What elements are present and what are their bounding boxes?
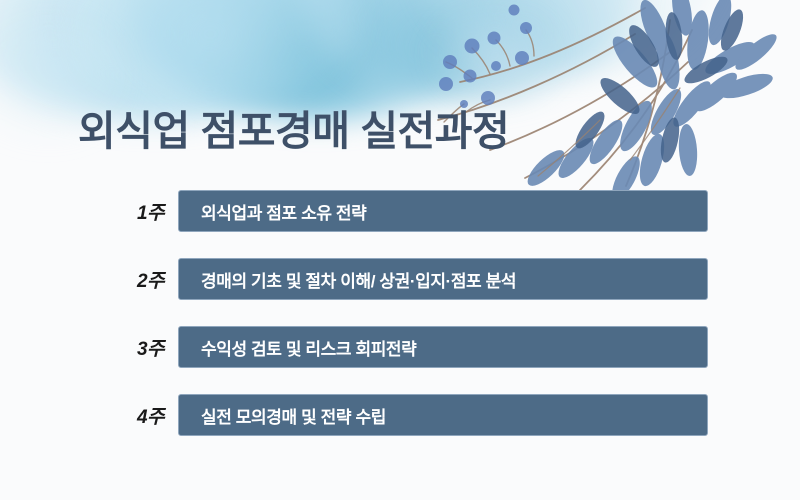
topic-bar-1[interactable]: 외식업과 점포 소유 전략 (178, 190, 708, 232)
topic-label-1: 외식업과 점포 소유 전략 (179, 199, 366, 224)
topic-label-2: 경매의 기초 및 절차 이해/ 상권·입지·점포 분석 (179, 267, 516, 292)
poster-canvas: 외식업 점포경매 실전과정 1주 외식업과 점포 소유 전략 2주 경매의 기초… (0, 0, 800, 500)
curriculum-list: 1주 외식업과 점포 소유 전략 2주 경매의 기초 및 절차 이해/ 상권·입… (0, 190, 800, 436)
page-title: 외식업 점포경매 실전과정 (78, 105, 509, 157)
wash-blob-g (430, 10, 560, 100)
topic-label-3: 수익성 검토 및 리스크 회피전략 (179, 335, 416, 360)
curriculum-row: 4주 실전 모의경매 및 전략 수립 (0, 394, 800, 436)
topic-bar-2[interactable]: 경매의 기초 및 절차 이해/ 상권·입지·점포 분석 (178, 258, 708, 300)
wash-blob-d (60, 0, 360, 110)
topic-label-4: 실전 모의경매 및 전략 수립 (179, 403, 386, 428)
botanical-illustration (430, 0, 800, 190)
wash-blob-b (130, 0, 510, 120)
week-label-3: 3주 (108, 326, 164, 368)
curriculum-row: 1주 외식업과 점포 소유 전략 (0, 190, 800, 232)
curriculum-row: 3주 수익성 검토 및 리스크 회피전략 (0, 326, 800, 368)
curriculum-row: 2주 경매의 기초 및 절차 이해/ 상권·입지·점포 분석 (0, 258, 800, 300)
topic-bar-4[interactable]: 실전 모의경매 및 전략 수립 (178, 394, 708, 436)
week-label-4: 4주 (108, 394, 164, 436)
wash-blob-e (420, 0, 720, 70)
wash-blob-a (0, 0, 360, 120)
week-label-1: 1주 (108, 190, 164, 232)
topic-bar-3[interactable]: 수익성 검토 및 리스크 회피전략 (178, 326, 708, 368)
wash-blob-c (300, 0, 640, 100)
week-label-2: 2주 (108, 258, 164, 300)
